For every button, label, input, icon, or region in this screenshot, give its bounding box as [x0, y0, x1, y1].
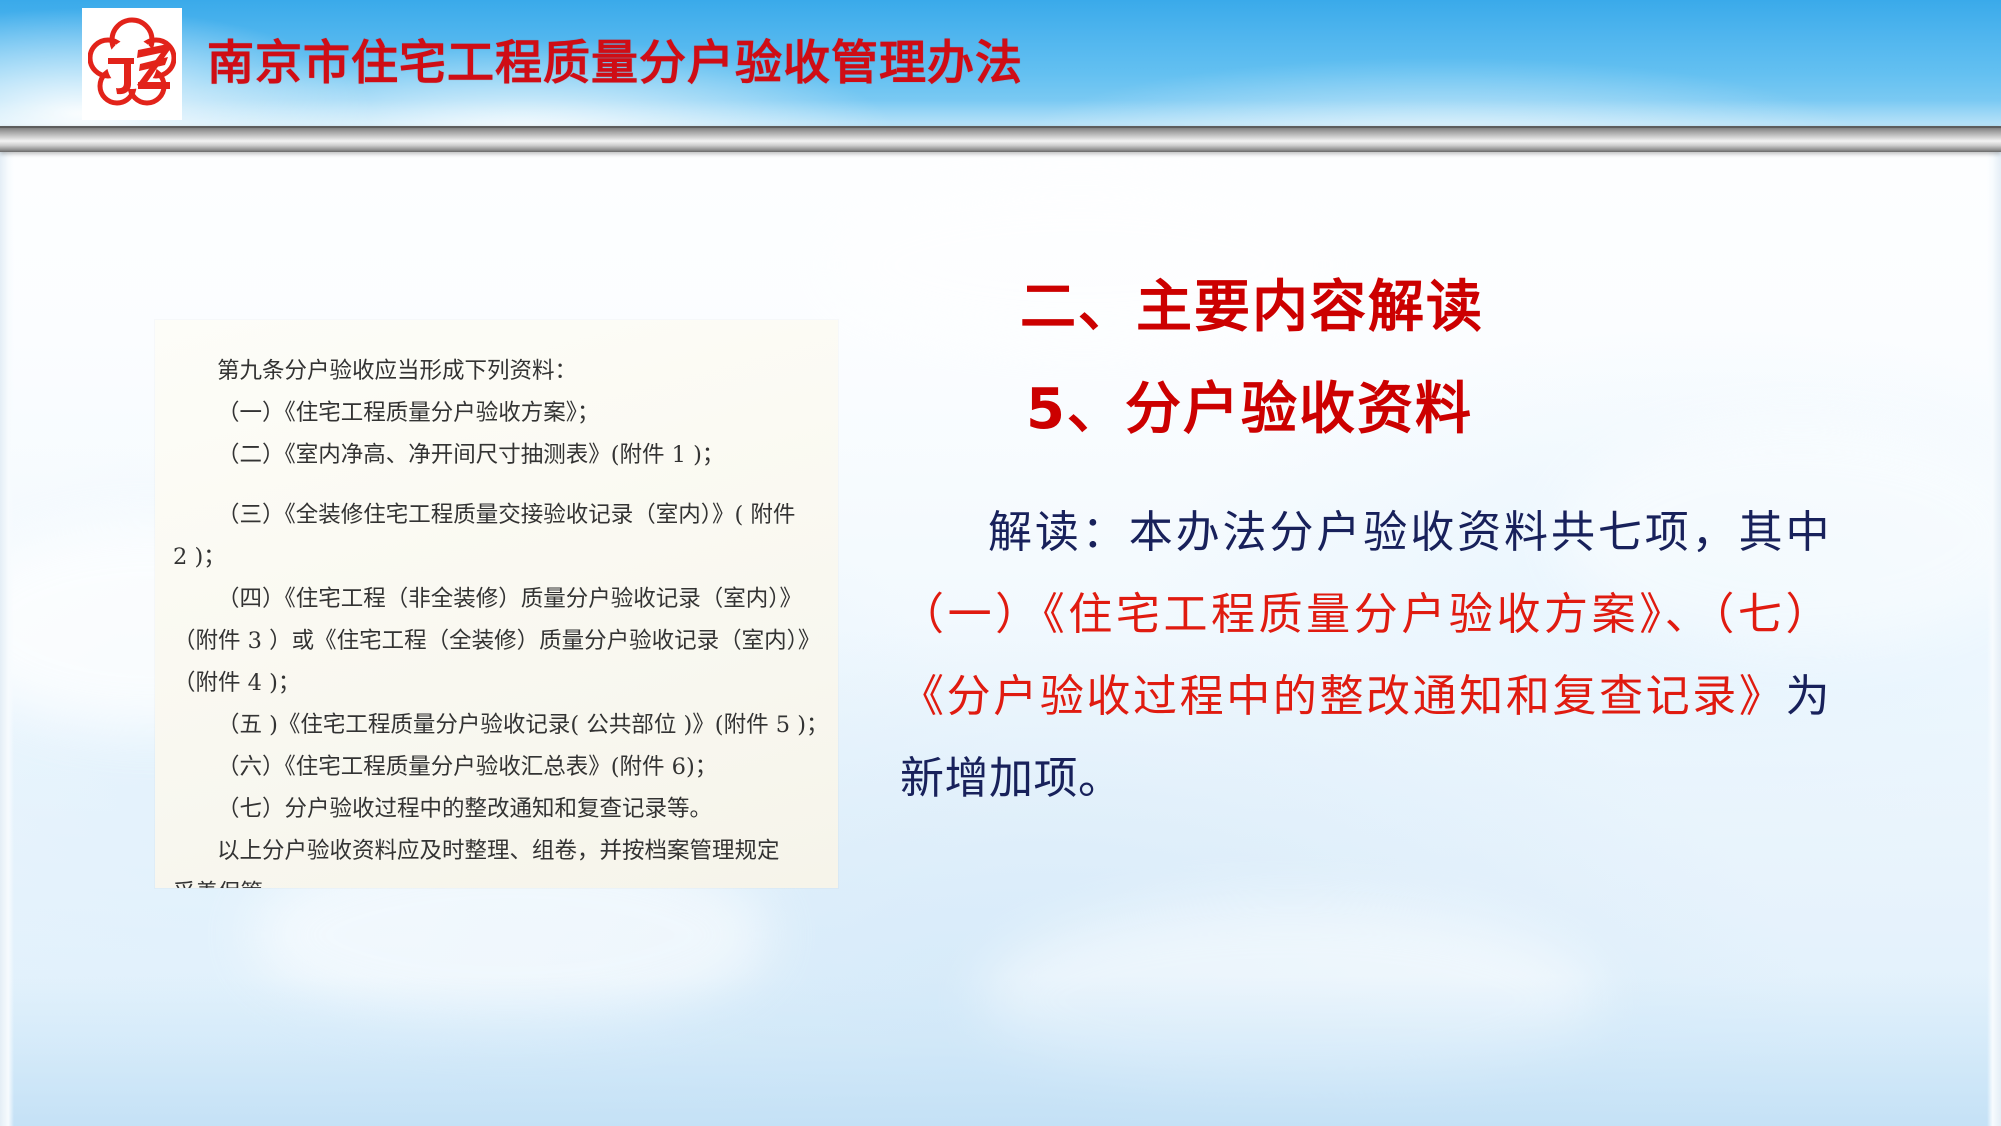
- doc-line: （七）分户验收过程中的整改通知和复查记录等。: [155, 788, 838, 830]
- doc-line: （二）《室内净高、净开间尺寸抽测表》(附件 1 )；: [155, 434, 838, 476]
- explanation-paragraph: 解读：本办法分户验收资料共七项，其中（一）《住宅工程质量分户验收方案》、（七）《…: [900, 492, 1830, 820]
- section-heading-sub: 5、分户验收资料: [900, 372, 1900, 448]
- doc-line: 第九条分户验收应当形成下列资料：: [155, 350, 838, 392]
- bottom-shelf: [0, 976, 2001, 1126]
- content-panel: 二、主要内容解读 5、分户验收资料 解读：本办法分户验收资料共七项，其中（一）《…: [900, 270, 1900, 820]
- doc-line: 妥善保管。: [155, 872, 838, 888]
- doc-line: 以上分户验收资料应及时整理、组卷，并按档案管理规定: [155, 830, 838, 872]
- plum-blossom-logo-icon: [88, 14, 176, 114]
- doc-line: （四）《住宅工程（非全装修）质量分户验收记录（室内）》: [155, 578, 838, 620]
- scanned-document-text: 第九条分户验收应当形成下列资料： （一）《住宅工程质量分户验收方案》； （二）《…: [155, 350, 838, 888]
- doc-line: （附件 3 ）或《住宅工程（全装修）质量分户验收记录（室内）》: [155, 620, 838, 662]
- right-rail: [1987, 152, 2001, 1126]
- header-divider: [0, 126, 2001, 152]
- left-rail: [0, 152, 14, 1126]
- doc-line: 2 )；: [155, 536, 838, 578]
- doc-line-gap: [155, 476, 838, 494]
- doc-line: （六）《住宅工程质量分户验收汇总表》(附件 6)；: [155, 746, 838, 788]
- doc-line: （三）《全装修住宅工程质量交接验收记录（室内）》( 附件: [155, 494, 838, 536]
- header-banner: 南京市住宅工程质量分户验收管理办法: [0, 0, 2001, 126]
- logo-plate: [82, 8, 182, 120]
- section-heading-main: 二、主要内容解读: [900, 270, 1900, 346]
- paragraph-segment-plain: 解读：本办法分户验收资料共七项，其中: [988, 507, 1830, 558]
- doc-line: （附件 4 )；: [155, 662, 838, 704]
- paragraph-segment-highlight: （一）《住宅工程质量分户验收方案》、（七）《分户验收过程中的整改通知和复查记录》: [900, 589, 1830, 722]
- page-title: 南京市住宅工程质量分户验收管理办法: [207, 35, 1023, 93]
- scanned-document-image: 第九条分户验收应当形成下列资料： （一）《住宅工程质量分户验收方案》； （二）《…: [155, 320, 838, 888]
- doc-line: （一）《住宅工程质量分户验收方案》；: [155, 392, 838, 434]
- slide-root: 南京市住宅工程质量分户验收管理办法 第九条分户验收应当形成下列资料： （一）《住…: [0, 0, 2001, 1126]
- doc-line: （五 )《住宅工程质量分户验收记录( 公共部位 )》(附件 5 )；: [155, 704, 838, 746]
